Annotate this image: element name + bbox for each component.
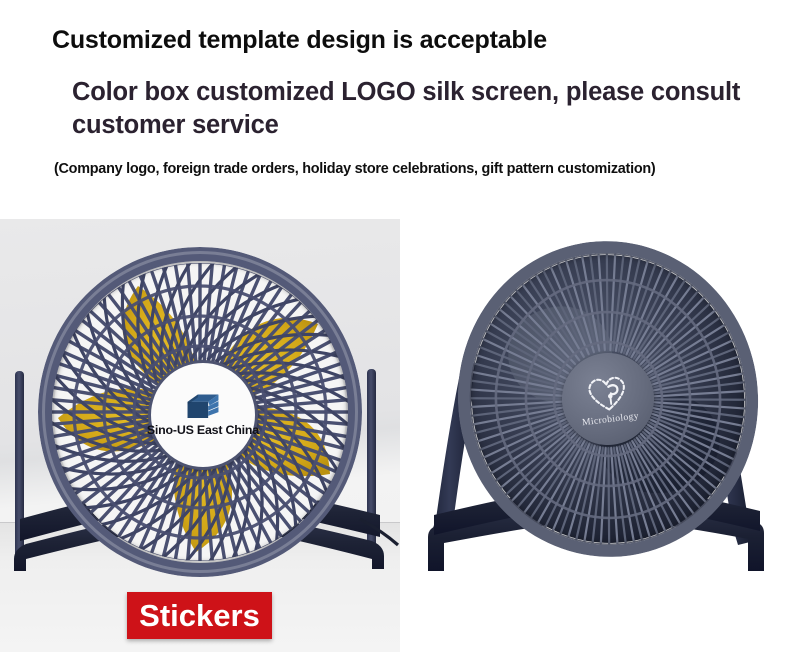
headline-primary: Customized template design is acceptable [52, 26, 547, 55]
caption-badge-left: Stickers [127, 592, 272, 639]
headline-secondary: Color box customized LOGO silk screen, p… [72, 76, 772, 141]
heart-dna-microbe-icon [580, 370, 635, 416]
header-text-block: Customized template design is acceptable… [0, 0, 800, 219]
caption-label-left: Stickers [139, 600, 260, 631]
3d-box-logo-icon [186, 393, 220, 421]
header-subnote: (Company logo, foreign trade orders, hol… [54, 161, 655, 177]
product-photo-strip: Sino-US East China Stickers [0, 219, 800, 652]
product-photo-right: Microbiology ilk scree [400, 219, 800, 652]
product-photo-left: Sino-US East China Stickers [0, 219, 400, 652]
fan-head-left: Sino-US East China [38, 247, 362, 577]
fan-hub-brand-left: Sino-US East China [147, 425, 259, 437]
product-banner: Customized template design is acceptable… [0, 0, 800, 652]
fan-hub-sticker-left: Sino-US East China [148, 360, 258, 470]
fan-head-right: Microbiology [440, 224, 776, 574]
